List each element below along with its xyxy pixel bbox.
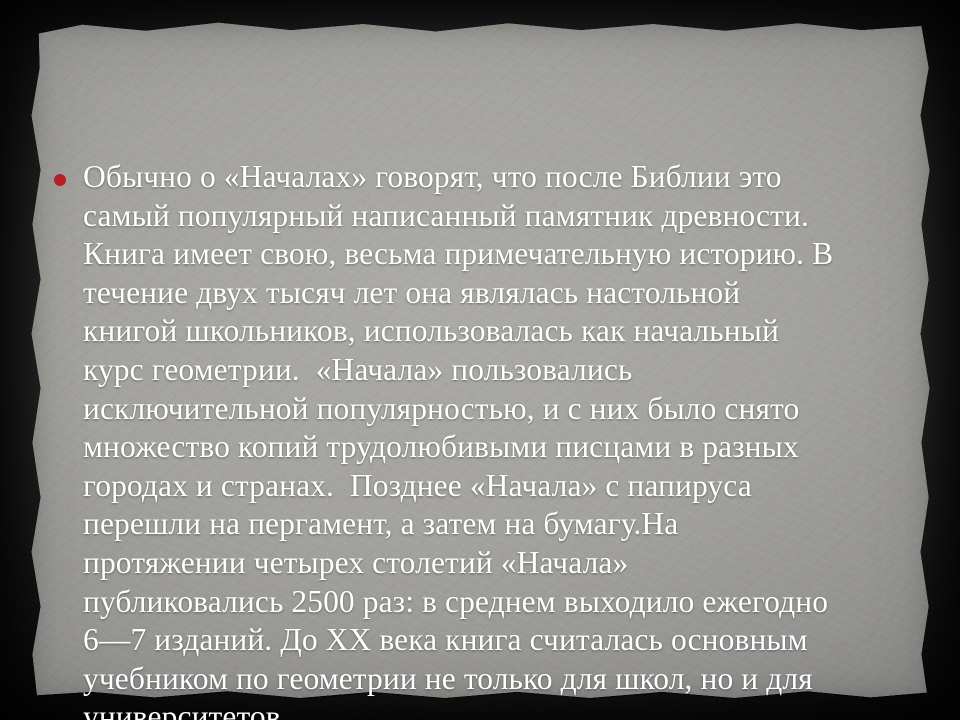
slide-content-placeholder: Обычно о «Началах» говорят, что после Би… — [54, 158, 914, 720]
list-item: Обычно о «Началах» говорят, что после Би… — [54, 158, 914, 720]
bullet-paragraph-text: Обычно о «Началах» говорят, что после Би… — [83, 158, 914, 720]
slide-canvas: Обычно о «Началах» говорят, что после Би… — [0, 0, 960, 720]
bullet-dot-icon — [54, 174, 66, 186]
